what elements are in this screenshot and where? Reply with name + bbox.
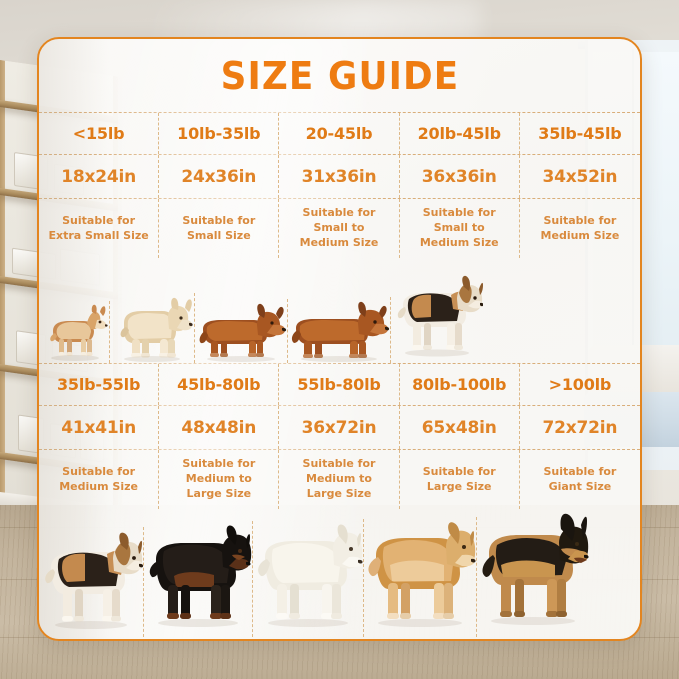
weight-label: 35lb-45lb bbox=[538, 124, 621, 143]
dog-cell bbox=[39, 527, 144, 637]
description-row-1: Suitable forExtra Small Size Suitable fo… bbox=[39, 198, 640, 258]
description-label: Suitable forMedium toLarge Size bbox=[178, 457, 259, 502]
german-shepherd-illustration bbox=[477, 511, 589, 637]
dog-row-1 bbox=[39, 258, 640, 363]
weight-cell: 35lb-55lb bbox=[39, 364, 159, 405]
description-label: Suitable forMedium toLarge Size bbox=[299, 457, 380, 502]
description-label: Suitable forMedium Size bbox=[537, 214, 624, 244]
dog-cell bbox=[39, 301, 110, 363]
description-cell: Suitable forSmall toMedium Size bbox=[400, 199, 520, 258]
dimension-row-2: 41x41in 48x48in 36x72in 65x48in 72x72in bbox=[39, 405, 640, 449]
dog-cell bbox=[391, 271, 483, 363]
description-cell: Suitable forExtra Small Size bbox=[39, 199, 159, 258]
description-label: Suitable forMedium Size bbox=[55, 465, 142, 495]
weight-cell: 45lb-80lb bbox=[159, 364, 279, 405]
dimension-label: 41x41in bbox=[61, 418, 136, 438]
dimension-label: 72x72in bbox=[543, 418, 618, 438]
weight-cell: <15lb bbox=[39, 113, 159, 154]
description-label: Suitable forSmall toMedium Size bbox=[416, 206, 503, 251]
weight-label: 45lb-80lb bbox=[177, 375, 260, 394]
rottweiler-illustration bbox=[144, 521, 252, 637]
beagle-illustration bbox=[391, 271, 483, 363]
weight-label: 10lb-35lb bbox=[177, 124, 260, 143]
beagle-large-illustration bbox=[39, 527, 143, 637]
weight-row-1: <15lb 10lb-35lb 20-45lb 20lb-45lb 35lb-4… bbox=[39, 112, 640, 154]
dog-row-2 bbox=[39, 509, 640, 637]
chihuahua-illustration bbox=[39, 301, 109, 363]
dimension-label: 65x48in bbox=[422, 418, 497, 438]
french-bulldog-illustration bbox=[110, 293, 194, 363]
dimension-label: 48x48in bbox=[181, 418, 256, 438]
dog-cell bbox=[110, 293, 195, 363]
dog-cell bbox=[288, 297, 391, 363]
dimension-cell: 24x36in bbox=[159, 155, 279, 198]
dimension-label: 31x36in bbox=[302, 167, 377, 187]
description-cell: Suitable forLarge Size bbox=[400, 450, 520, 509]
weight-label: >100lb bbox=[549, 375, 612, 394]
dimension-cell: 31x36in bbox=[279, 155, 399, 198]
description-label: Suitable forLarge Size bbox=[419, 465, 500, 495]
dimension-cell: 36x36in bbox=[400, 155, 520, 198]
dimension-cell: 18x24in bbox=[39, 155, 159, 198]
dimension-cell: 36x72in bbox=[279, 406, 399, 449]
description-label: Suitable forSmall toMedium Size bbox=[296, 206, 383, 251]
description-label: Suitable forSmall Size bbox=[178, 214, 259, 244]
labrador-illustration bbox=[253, 519, 363, 637]
size-guide-card: SIZE GUIDE <15lb 10lb-35lb 20-45lb 20lb-… bbox=[37, 37, 642, 641]
dimension-cell: 48x48in bbox=[159, 406, 279, 449]
weight-cell: 80lb-100lb bbox=[400, 364, 520, 405]
description-cell: Suitable forMedium toLarge Size bbox=[159, 450, 279, 509]
dimension-cell: 72x72in bbox=[520, 406, 640, 449]
weight-label: 55lb-80lb bbox=[297, 375, 380, 394]
weight-label: 20-45lb bbox=[306, 124, 373, 143]
weight-label: 35lb-55lb bbox=[57, 375, 140, 394]
dog-cell bbox=[477, 511, 589, 637]
weight-row-2: 35lb-55lb 45lb-80lb 55lb-80lb 80lb-100lb… bbox=[39, 363, 640, 405]
dimension-cell: 65x48in bbox=[400, 406, 520, 449]
size-table-section-1: <15lb 10lb-35lb 20-45lb 20lb-45lb 35lb-4… bbox=[39, 112, 640, 363]
dog-cell bbox=[144, 521, 253, 637]
description-cell: Suitable forGiant Size bbox=[520, 450, 640, 509]
weight-cell: 55lb-80lb bbox=[279, 364, 399, 405]
dog-cell bbox=[253, 519, 364, 637]
dimension-row-1: 18x24in 24x36in 31x36in 36x36in 34x52in bbox=[39, 154, 640, 198]
weight-cell: 20-45lb bbox=[279, 113, 399, 154]
dimension-cell: 41x41in bbox=[39, 406, 159, 449]
dog-cell bbox=[195, 299, 288, 363]
description-cell: Suitable forMedium toLarge Size bbox=[279, 450, 399, 509]
dimension-label: 34x52in bbox=[543, 167, 618, 187]
weight-cell: 10lb-35lb bbox=[159, 113, 279, 154]
description-row-2: Suitable forMedium Size Suitable forMedi… bbox=[39, 449, 640, 509]
weight-cell: >100lb bbox=[520, 364, 640, 405]
description-cell: Suitable forSmall Size bbox=[159, 199, 279, 258]
dachshund-illustration bbox=[288, 297, 390, 363]
weight-label: <15lb bbox=[73, 124, 125, 143]
dog-cell bbox=[364, 517, 477, 637]
dimension-label: 24x36in bbox=[181, 167, 256, 187]
description-cell: Suitable forMedium Size bbox=[39, 450, 159, 509]
page-title: SIZE GUIDE bbox=[220, 54, 459, 98]
dimension-label: 18x24in bbox=[61, 167, 136, 187]
dimension-label: 36x36in bbox=[422, 167, 497, 187]
golden-retriever-illustration bbox=[364, 517, 476, 637]
weight-label: 80lb-100lb bbox=[412, 375, 506, 394]
weight-label: 20lb-45lb bbox=[418, 124, 501, 143]
dachshund-small-illustration bbox=[195, 299, 287, 363]
size-table-section-2: 35lb-55lb 45lb-80lb 55lb-80lb 80lb-100lb… bbox=[39, 363, 640, 637]
description-label: Suitable forGiant Size bbox=[539, 465, 620, 495]
dimension-cell: 34x52in bbox=[520, 155, 640, 198]
dimension-label: 36x72in bbox=[302, 418, 377, 438]
description-cell: Suitable forMedium Size bbox=[520, 199, 640, 258]
card-title-bar: SIZE GUIDE bbox=[39, 39, 640, 112]
description-cell: Suitable forSmall toMedium Size bbox=[279, 199, 399, 258]
weight-cell: 35lb-45lb bbox=[520, 113, 640, 154]
weight-cell: 20lb-45lb bbox=[400, 113, 520, 154]
description-label: Suitable forExtra Small Size bbox=[44, 214, 152, 244]
